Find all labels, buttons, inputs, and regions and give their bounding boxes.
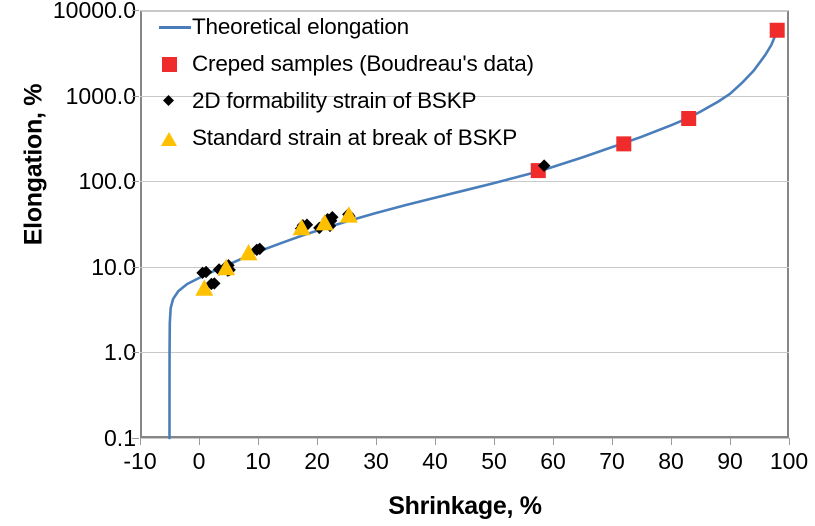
x-tickmark bbox=[199, 438, 200, 445]
x-tickmark bbox=[317, 438, 318, 445]
chart-legend: Theoretical elongation Creped samples (B… bbox=[158, 14, 534, 151]
x-tickmark bbox=[494, 438, 495, 445]
y-tick-label: 10000.0 bbox=[4, 0, 136, 22]
y-tickmark bbox=[132, 96, 139, 97]
diamond-marker-icon bbox=[158, 90, 192, 112]
legend-item-creped[interactable]: Creped samples (Boudreau's data) bbox=[158, 51, 534, 77]
x-tick-label: 60 bbox=[523, 450, 583, 473]
y-tick-label: 10.0 bbox=[4, 256, 136, 279]
data-point-square bbox=[681, 111, 696, 126]
x-tick-label: 100 bbox=[759, 450, 815, 473]
x-tick-label: 50 bbox=[464, 450, 524, 473]
y-tick-label: 100.0 bbox=[4, 170, 136, 193]
x-tickmark bbox=[730, 438, 731, 445]
x-tick-label: 30 bbox=[346, 450, 406, 473]
triangle-marker-icon bbox=[158, 127, 192, 149]
chart-container: Elongation, % 0.11.010.0100.01000.010000… bbox=[0, 0, 815, 526]
x-tickmark bbox=[612, 438, 613, 445]
series-diamond bbox=[196, 159, 550, 290]
x-tick-label: -10 bbox=[110, 450, 170, 473]
line-swatch-icon bbox=[158, 16, 192, 38]
y-tickmark bbox=[132, 352, 139, 353]
data-point-square bbox=[770, 23, 785, 38]
x-tick-label: 70 bbox=[582, 450, 642, 473]
x-tickmark bbox=[671, 438, 672, 445]
y-tickmark bbox=[132, 181, 139, 182]
x-tickmark bbox=[258, 438, 259, 445]
square-marker-icon bbox=[158, 53, 192, 75]
x-tick-label: 40 bbox=[405, 450, 465, 473]
x-tickmark bbox=[140, 438, 141, 445]
legend-item-formability[interactable]: 2D formability strain of BSKP bbox=[158, 88, 534, 114]
legend-item-standard[interactable]: Standard strain at break of BSKP bbox=[158, 125, 534, 151]
legend-label: Theoretical elongation bbox=[192, 14, 409, 40]
x-tick-label: 10 bbox=[228, 450, 288, 473]
x-tick-label: 0 bbox=[169, 450, 229, 473]
x-tick-label: 20 bbox=[287, 450, 347, 473]
y-tickmark bbox=[132, 10, 139, 11]
legend-label: Standard strain at break of BSKP bbox=[192, 125, 517, 151]
data-point-square bbox=[616, 136, 631, 151]
y-tickmark bbox=[132, 438, 139, 439]
x-tickmark bbox=[553, 438, 554, 445]
y-tick-label: 1000.0 bbox=[4, 85, 136, 108]
legend-label: Creped samples (Boudreau's data) bbox=[192, 51, 534, 77]
y-tickmark bbox=[132, 267, 139, 268]
legend-item-theoretical[interactable]: Theoretical elongation bbox=[158, 14, 534, 40]
x-tickmark bbox=[435, 438, 436, 445]
legend-label: 2D formability strain of BSKP bbox=[192, 88, 476, 114]
x-axis-title: Shrinkage, % bbox=[140, 492, 790, 521]
y-tick-label: 1.0 bbox=[4, 341, 136, 364]
x-tick-label: 90 bbox=[700, 450, 760, 473]
x-tickmark bbox=[789, 438, 790, 445]
gridline bbox=[140, 438, 789, 439]
y-axis-tick-labels: 0.11.010.0100.01000.010000.0 bbox=[0, 0, 136, 460]
y-tick-label: 0.1 bbox=[4, 427, 136, 450]
x-tick-label: 80 bbox=[641, 450, 701, 473]
x-tickmark bbox=[376, 438, 377, 445]
series-square bbox=[531, 23, 785, 178]
